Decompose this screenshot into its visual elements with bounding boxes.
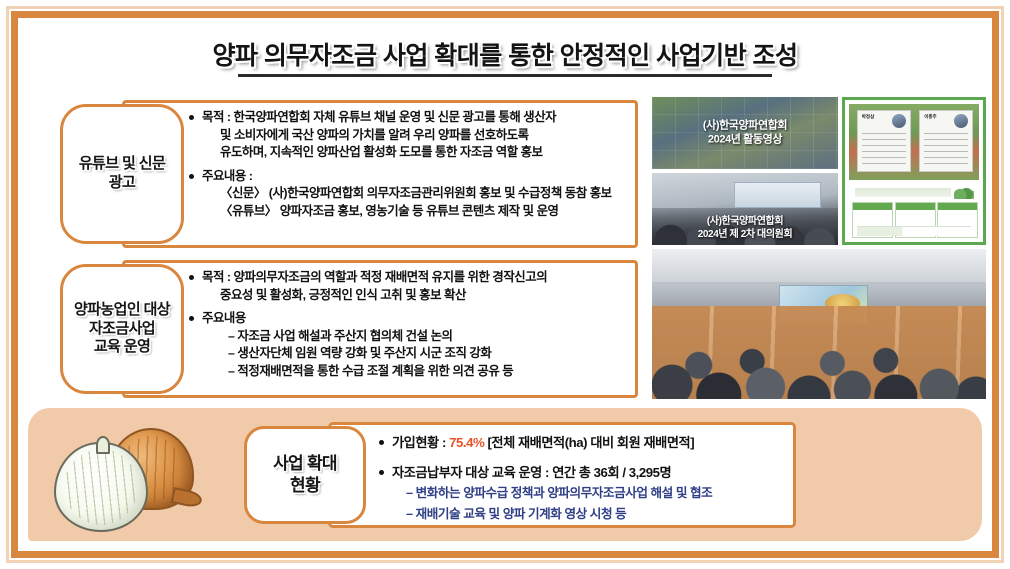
interviewee-name: 이흥주 bbox=[924, 114, 936, 120]
label-line-1: 양파농업인 대상 bbox=[74, 301, 170, 320]
hall-ceiling bbox=[652, 249, 986, 282]
photo-collage: (사)한국양파연합회 2024년 활동영상 (사)한국양파연합회 2024년 제… bbox=[652, 97, 986, 399]
education-sub-item: – 재배기술 교육 및 양파 기계화 영상 시청 등 bbox=[392, 505, 785, 523]
section-2-label-pill: 양파농업인 대상 자조금사업 교육 운영 bbox=[60, 264, 184, 394]
page-title: 양파 의무자조금 사업 확대를 통한 안정적인 사업기반 조성 bbox=[0, 36, 1010, 72]
bottom-label: 사업 확대 현황 bbox=[273, 453, 337, 497]
section-1-body: 목적 : 한국양파연합회 자체 유튜브 채널 운영 및 신문 광고를 통해 생산… bbox=[122, 100, 638, 248]
portrait-photo bbox=[954, 114, 968, 128]
portrait-photo bbox=[892, 114, 906, 128]
caption-line-1: (사)한국양파연합회 bbox=[652, 119, 838, 133]
label-line-1: 유튜브 및 신문 bbox=[79, 155, 165, 174]
slide-canvas: 양파 의무자조금 사업 확대를 통한 안정적인 사업기반 조성 목적 : 한국양… bbox=[0, 0, 1010, 569]
label-line-3: 교육 운영 bbox=[74, 338, 170, 357]
caption-line-2: 2024년 제 2차 대의원회 bbox=[652, 229, 838, 242]
section-youtube-newspaper-ad: 목적 : 한국양파연합회 자체 유튜브 채널 운영 및 신문 광고를 통해 생산… bbox=[60, 100, 638, 248]
photo-delegates-meeting: (사)한국양파연합회 2024년 제 2차 대의원회 bbox=[652, 173, 838, 245]
interview-card-left: 박정삼 bbox=[857, 110, 911, 172]
bullet-cont-text: 〈신문〉 (사)한국양파연합회 의무자조금관리위원회 홍보 및 수급정책 동참 … bbox=[202, 185, 629, 203]
newspaper-hero-image: 박정삼 이흥주 bbox=[849, 104, 979, 180]
photo-newspaper-advertisement: 박정삼 이흥주 bbox=[842, 97, 986, 245]
bullet-cont-text: – 적정재배면적을 통한 수급 조절 계획을 위한 의견 공유 등 bbox=[202, 363, 629, 381]
list-item: 가입현황 : 75.4% [전체 재배면적(ha) 대비 회원 재배면적] bbox=[377, 434, 785, 453]
membership-percentage: 75.4% bbox=[449, 435, 484, 450]
bullet-cont-text: – 생산자단체 임원 역량 강화 및 주산지 시군 조직 강화 bbox=[202, 345, 629, 363]
bullet-main-text: 목적 : 한국양파연합회 자체 유튜브 채널 운영 및 신문 광고를 통해 생산… bbox=[202, 110, 556, 124]
onion-illustration bbox=[48, 426, 198, 530]
photo-caption: (사)한국양파연합회 2024년 제 2차 대의원회 bbox=[652, 216, 838, 241]
label-line-2: 광고 bbox=[79, 174, 165, 193]
sponsor-logo-bar bbox=[857, 226, 971, 236]
caption-line-1: (사)한국양파연합회 bbox=[652, 216, 838, 229]
interviewee-name: 박정삼 bbox=[862, 114, 874, 120]
interview-card-right: 이흥주 bbox=[919, 110, 973, 172]
bottom-bullets: 가입현황 : 75.4% [전체 재배면적(ha) 대비 회원 재배면적] 자조… bbox=[377, 434, 785, 523]
bottom-label-pill: 사업 확대 현황 bbox=[244, 426, 366, 524]
bullet-main-text: 주요내용 : bbox=[202, 169, 252, 183]
list-item: 주요내용 – 자조금 사업 해설과 주산지 협의체 건설 논의 – 생산자단체 … bbox=[187, 310, 629, 380]
section-business-expansion-status: 가입현황 : 75.4% [전체 재배면적(ha) 대비 회원 재배면적] 자조… bbox=[28, 408, 982, 541]
section-1-bullets: 목적 : 한국양파연합회 자체 유튜브 채널 운영 및 신문 광고를 통해 생산… bbox=[187, 109, 629, 221]
bullet-cont-text: 〈유튜브〉 양파자조금 홍보, 영농기술 등 유튜브 콘텐츠 제작 및 운영 bbox=[202, 203, 629, 221]
section-2-label: 양파농업인 대상 자조금사업 교육 운영 bbox=[74, 301, 170, 357]
photo-caption: (사)한국양파연합회 2024년 활동영상 bbox=[652, 119, 838, 147]
projection-screen bbox=[734, 182, 822, 208]
audience bbox=[652, 300, 986, 399]
education-sub-item: – 변화하는 양파수급 정책과 양파의무자조금사업 해설 및 협조 bbox=[392, 484, 785, 502]
section-farmer-education: 목적 : 양파의무자조금의 역할과 적정 재배면적 유지를 위한 경작신고의 중… bbox=[60, 260, 638, 398]
list-item: 주요내용 : 〈신문〉 (사)한국양파연합회 의무자조금관리위원회 홍보 및 수… bbox=[187, 168, 629, 221]
bullet-cont-text: – 자조금 사업 해설과 주산지 협의체 건설 논의 bbox=[202, 328, 629, 346]
newspaper-lower-section bbox=[849, 184, 979, 238]
onion-root-tail bbox=[171, 487, 204, 509]
list-item: 자조금납부자 대상 교육 운영 : 연간 총 36회 / 3,295명 – 변화… bbox=[377, 464, 785, 523]
photo-youtube-thumbnail: (사)한국양파연합회 2024년 활동영상 bbox=[652, 97, 838, 169]
membership-label: 가입현황 : bbox=[392, 435, 449, 450]
caption-line-2: 2024년 활동영상 bbox=[652, 133, 838, 147]
bullet-cont-text: 및 소비자에게 국산 양파의 가치를 알려 우리 양파를 선호하도록 bbox=[202, 127, 629, 145]
onion-sprout-tip bbox=[96, 436, 110, 454]
label-line-2: 자조금사업 bbox=[74, 320, 170, 339]
bottom-section-body: 가입현황 : 75.4% [전체 재배면적(ha) 대비 회원 재배면적] 자조… bbox=[328, 422, 796, 528]
bullet-cont-text: 중요성 및 활성화, 긍정적인 인식 고취 및 홍보 확산 bbox=[202, 287, 629, 305]
label-line-1: 사업 확대 bbox=[273, 453, 337, 475]
section-1-label-pill: 유튜브 및 신문 광고 bbox=[60, 104, 184, 244]
section-2-bullets: 목적 : 양파의무자조금의 역할과 적정 재배면적 유지를 위한 경작신고의 중… bbox=[187, 269, 629, 381]
section-2-body: 목적 : 양파의무자조금의 역할과 적정 재배면적 유지를 위한 경작신고의 중… bbox=[122, 260, 638, 398]
bullet-main-text: 목적 : 양파의무자조금의 역할과 적정 재배면적 유지를 위한 경작신고의 bbox=[202, 270, 547, 284]
education-summary: 자조금납부자 대상 교육 운영 : 연간 총 36회 / 3,295명 bbox=[392, 465, 671, 480]
section-1-label: 유튜브 및 신문 광고 bbox=[79, 155, 165, 193]
list-item: 목적 : 양파의무자조금의 역할과 적정 재배면적 유지를 위한 경작신고의 중… bbox=[187, 269, 629, 304]
content-left-column: 목적 : 한국양파연합회 자체 유튜브 채널 운영 및 신문 광고를 통해 생산… bbox=[60, 100, 638, 398]
membership-note: [전체 재배면적(ha) 대비 회원 재배면적] bbox=[484, 435, 694, 450]
white-onion-icon bbox=[54, 442, 148, 532]
photo-education-lecture-hall bbox=[652, 249, 986, 399]
onion-logo-icon bbox=[954, 187, 974, 199]
headline-bar bbox=[855, 188, 951, 197]
bullet-cont-text: 유도하며, 지속적인 양파산업 활성화 도모를 통한 자조금 역할 홍보 bbox=[202, 144, 629, 162]
label-line-2: 현황 bbox=[273, 475, 337, 497]
bullet-main-text: 주요내용 bbox=[202, 311, 246, 325]
list-item: 목적 : 한국양파연합회 자체 유튜브 채널 운영 및 신문 광고를 통해 생산… bbox=[187, 109, 629, 162]
